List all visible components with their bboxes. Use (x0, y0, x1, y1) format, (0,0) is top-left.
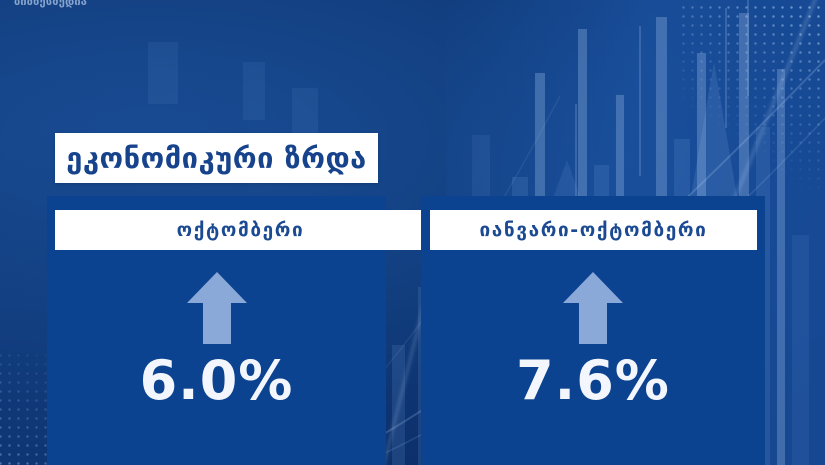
title-card: ეკონომიკური ზრდა (55, 133, 378, 183)
stat-panel-october: ოქტომბერი 6.0% (47, 196, 386, 465)
stat-panel-january-october: იანვარი-ოქტომბერი 7.6% (421, 196, 765, 465)
dot-matrix-pattern-top-right (679, 0, 825, 194)
arrow-container-october (47, 270, 386, 346)
panel-label-october: ოქტომბერი (177, 221, 305, 240)
arrow-container-january-october (421, 270, 765, 346)
stat-value-october: 6.0% (47, 354, 386, 408)
arrow-up-icon (185, 270, 249, 346)
page-title: ეკონომიკური ზრდა (66, 144, 366, 173)
channel-watermark: ბიზნესმედია (14, 0, 87, 8)
arrow-up-icon (561, 270, 625, 346)
stat-value-january-october: 7.6% (421, 354, 765, 408)
panel-label-january-october: იანვარი-ოქტომბერი (480, 221, 708, 240)
infographic-stage: ბიზნესმედია ეკონომიკური ზრდა ოქტომბერი 6… (0, 0, 825, 465)
panel-header-october: ოქტომბერი (55, 210, 426, 250)
panel-header-january-october: იანვარი-ოქტომბერი (430, 210, 757, 250)
